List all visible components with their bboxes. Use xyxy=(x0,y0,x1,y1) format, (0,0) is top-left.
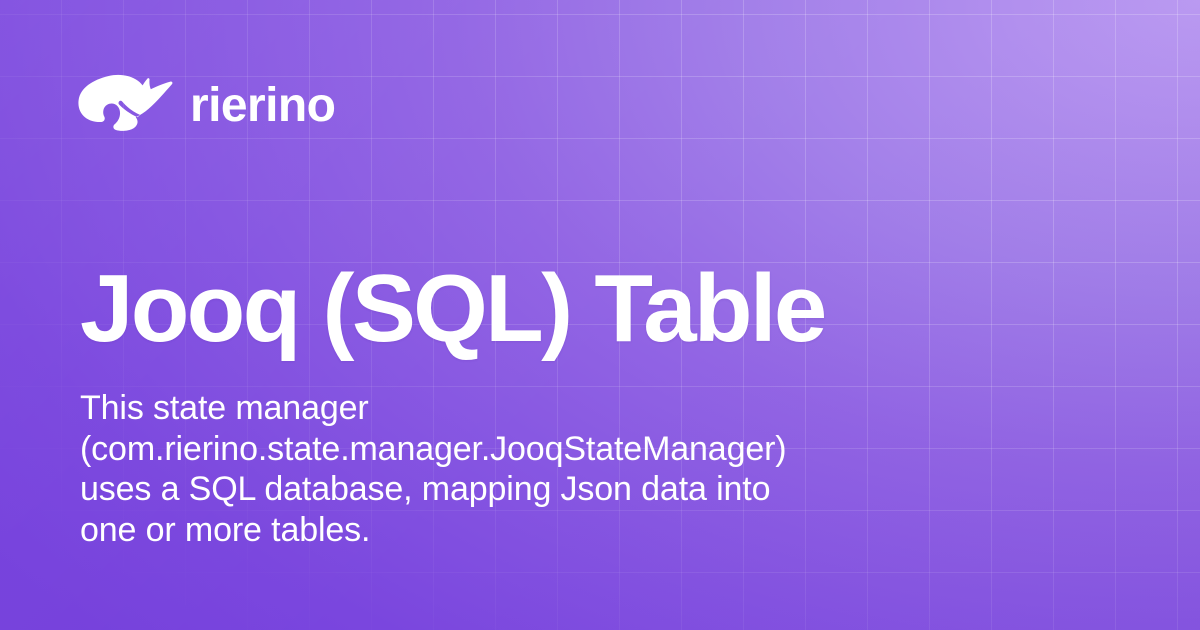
brand-lockup: rierino xyxy=(78,72,335,136)
card-content: rierino Jooq (SQL) Table This state mana… xyxy=(0,0,1200,630)
page-description: This state manager (com.rierino.state.ma… xyxy=(80,388,960,550)
description-line: one or more tables. xyxy=(80,510,960,551)
rhino-logo-icon xyxy=(78,74,174,134)
social-card: rierino Jooq (SQL) Table This state mana… xyxy=(0,0,1200,630)
description-line: This state manager xyxy=(80,388,960,429)
brand-wordmark: rierino xyxy=(190,82,335,130)
page-title: Jooq (SQL) Table xyxy=(80,258,825,360)
description-line: (com.rierino.state.manager.JooqStateMana… xyxy=(80,429,960,470)
description-line: uses a SQL database, mapping Json data i… xyxy=(80,469,960,510)
